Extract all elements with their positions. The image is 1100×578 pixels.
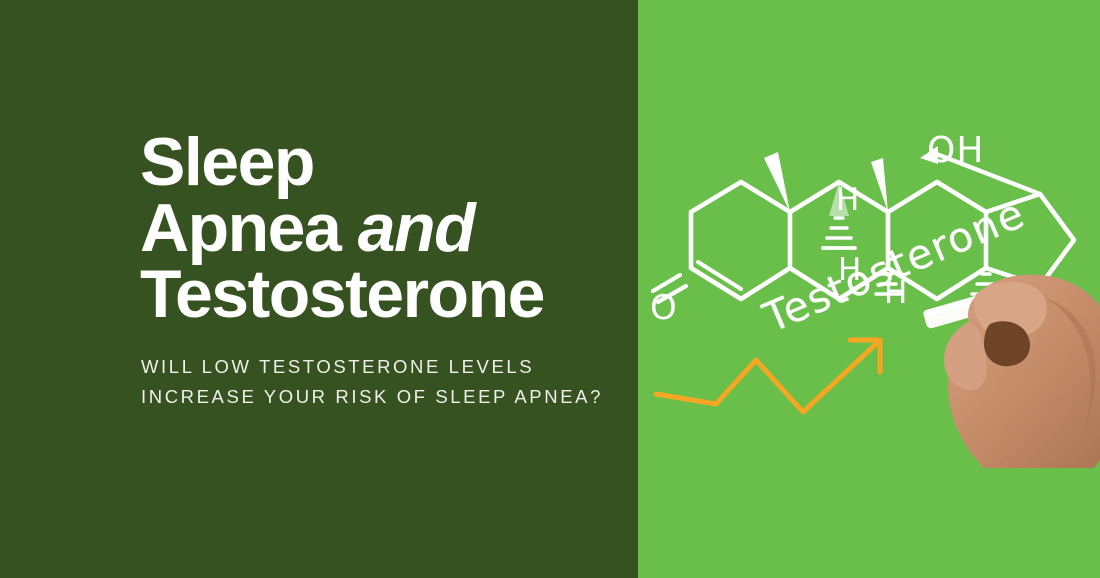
- headline-line-1: Sleep: [140, 130, 620, 196]
- banner-root: Sleep Apnea and Testosterone WILL LOW TE…: [0, 0, 1100, 578]
- hydrogen-label-1: H: [836, 182, 859, 218]
- subtitle-line-2: INCREASE YOUR RISK OF SLEEP APNEA?: [141, 382, 631, 412]
- left-text-panel: Sleep Apnea and Testosterone WILL LOW TE…: [0, 0, 638, 578]
- headline-line-2: Apnea and: [140, 196, 620, 262]
- page-subtitle: WILL LOW TESTOSTERONE LEVELS INCREASE YO…: [141, 352, 631, 412]
- hand-holding-chalk: [918, 268, 1100, 468]
- hydroxyl-label: OH: [927, 130, 984, 171]
- subtitle-line-1: WILL LOW TESTOSTERONE LEVELS: [141, 352, 631, 382]
- ketone-oxygen-label: O: [650, 288, 677, 328]
- headline-line-2-italic: and: [358, 190, 474, 266]
- right-illustration-panel: O OH H H H Testosterone: [638, 0, 1100, 578]
- upward-trend-arrow: [656, 340, 880, 412]
- headline-line-2-normal: Apnea: [140, 190, 358, 266]
- headline-line-3: Testosterone: [140, 262, 620, 328]
- page-title: Sleep Apnea and Testosterone: [140, 130, 620, 328]
